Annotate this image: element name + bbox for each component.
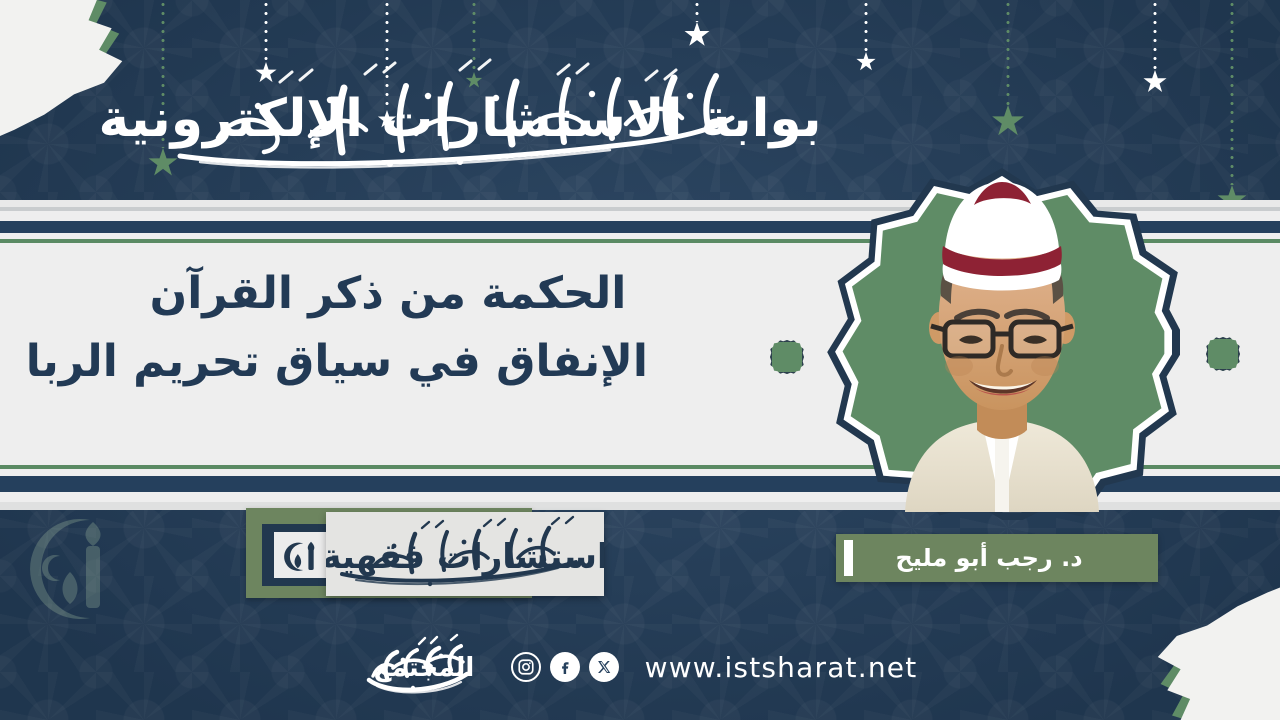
- scallop-dot-1: [770, 340, 804, 374]
- title-line-2: الإنفاق في سياق تحريم الربا: [128, 328, 648, 396]
- header-calligraphy-text: بوابة الاستشارات الإلكترونية: [98, 89, 821, 149]
- star-string: [1007, 0, 1010, 105]
- star-string: [1231, 0, 1234, 185]
- star-string: [1154, 0, 1157, 70]
- instagram-icon[interactable]: [511, 652, 541, 682]
- hanging-star-8: [1152, 0, 1158, 94]
- header-calligraphy: بوابة الاستشارات الإلكترونية: [160, 52, 760, 177]
- hanging-star-5: [694, 0, 700, 48]
- footer-bar: المجتمع www.istsharat.net: [0, 628, 1280, 706]
- website-url[interactable]: www.istsharat.net: [645, 651, 918, 684]
- speaker-name: د. رجب أبو مليح: [895, 544, 1098, 572]
- scallop-dot-2: [1206, 337, 1240, 371]
- speaker-name-badge: د. رجب أبو مليح: [836, 534, 1158, 582]
- social-links: [511, 652, 619, 682]
- speaker-portrait-photo: [883, 176, 1121, 512]
- hanging-star-6: [863, 0, 869, 72]
- crescent-minaret-mark-icon: [282, 538, 326, 572]
- poster-canvas: بوابة الاستشارات الإلكترونية الحكمة من ذ…: [0, 0, 1280, 720]
- star-string: [696, 0, 699, 22]
- program-badge-calligraphy: استشارات فقهية: [326, 512, 604, 596]
- star-string: [865, 0, 868, 52]
- page-title: الحكمة من ذكر القرآن الإنفاق في سياق تحر…: [128, 260, 648, 396]
- footer-brand-logo: المجتمع: [363, 632, 485, 702]
- program-badge-mark: [274, 532, 334, 578]
- x-twitter-icon[interactable]: [589, 652, 619, 682]
- watermark-crescent-minaret-icon: [24, 500, 134, 625]
- hanging-star-7: [1005, 0, 1011, 138]
- hanging-star-9: [1229, 0, 1235, 215]
- footer-brand-text: المجتمع: [373, 653, 474, 683]
- title-line-1: الحكمة من ذكر القرآن: [128, 260, 648, 328]
- program-badge: استشارات فقهية: [246, 506, 604, 602]
- speaker-portrait-frame: [824, 168, 1180, 520]
- program-badge-plate: استشارات فقهية: [326, 512, 604, 596]
- facebook-icon[interactable]: [550, 652, 580, 682]
- header-calligraphy-svg: بوابة الاستشارات الإلكترونية: [160, 52, 760, 177]
- program-badge-text: استشارات فقهية: [326, 537, 604, 577]
- name-badge-accent-bar: [844, 540, 853, 576]
